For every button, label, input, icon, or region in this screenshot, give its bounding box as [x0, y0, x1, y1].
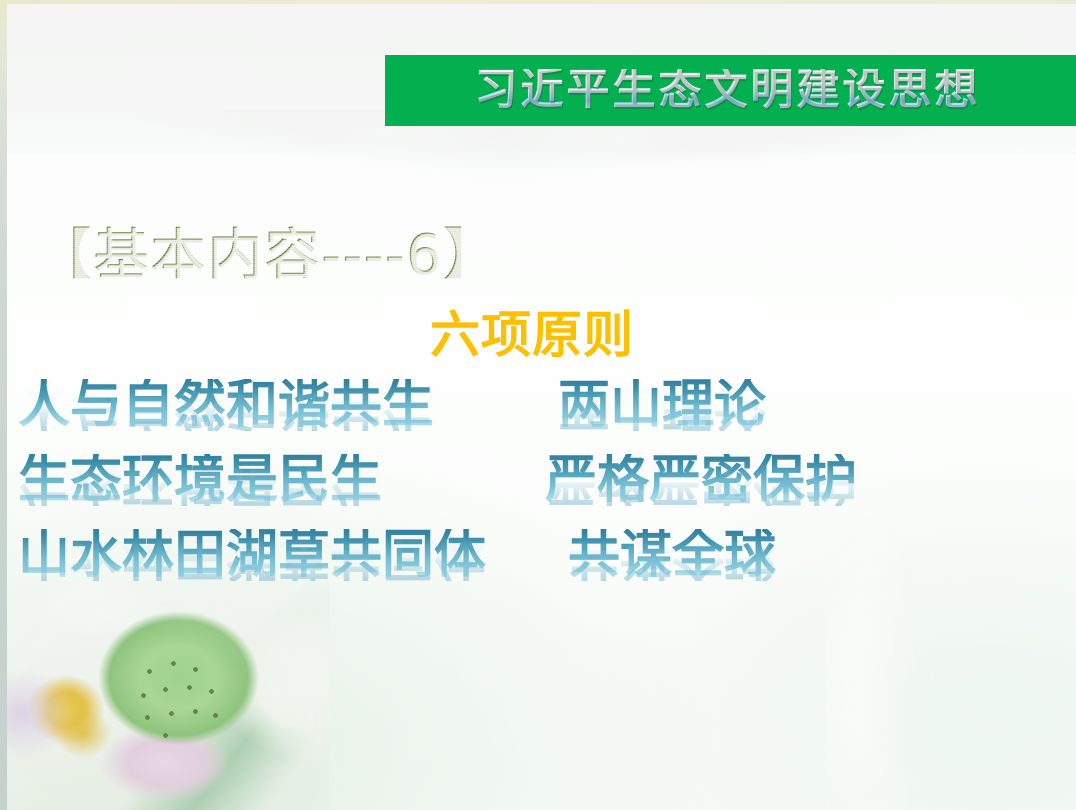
slide-frame-left-edge	[0, 0, 7, 810]
section-heading: 【基本内容----6】	[36, 226, 499, 286]
lotus-flower-artwork	[0, 580, 330, 810]
principle-row: 生态环境是民生 严格严密保护	[10, 454, 1010, 529]
principle-text-right: 共谋全球	[568, 529, 776, 581]
principle-text-left: 人与自然和谐共生	[18, 379, 434, 431]
lotus-flower-photo	[0, 580, 330, 810]
principle-text-left: 山水林田湖草共同体	[18, 529, 486, 581]
slide-title-text: 习近平生态文明建设思想	[475, 69, 987, 112]
slide-frame-top-edge	[0, 0, 1076, 4]
principle-text-right: 两山理论	[558, 379, 766, 431]
principles-list: 人与自然和谐共生 两山理论 生态环境是民生 严格严密保护 山水林田湖草共同体 共…	[10, 379, 1010, 604]
principle-row: 山水林田湖草共同体 共谋全球	[10, 529, 1010, 604]
principle-text-left: 生态环境是民生	[18, 454, 382, 506]
slide-title-banner: 习近平生态文明建设思想	[385, 55, 1076, 126]
principle-row: 人与自然和谐共生 两山理论	[10, 379, 1010, 454]
principle-text-right: 严格严密保护	[545, 454, 857, 506]
section-subtitle: 六项原则	[430, 308, 634, 362]
presentation-slide: 习近平生态文明建设思想 【基本内容----6】 六项原则 人与自然和谐共生 两山…	[0, 0, 1076, 810]
